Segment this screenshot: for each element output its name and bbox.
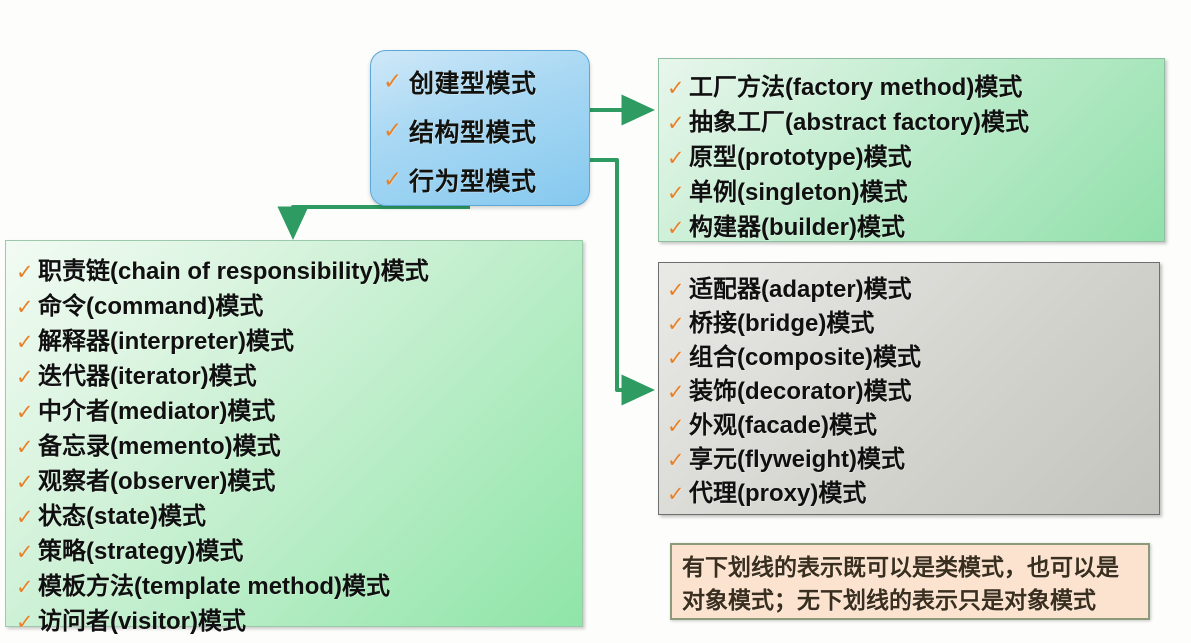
list-item[interactable]: ✓ 解释器(interpreter)模式 xyxy=(16,321,582,356)
check-icon: ✓ xyxy=(667,484,689,505)
pattern-label: 迭代器(iterator)模式 xyxy=(38,356,257,391)
check-icon: ✓ xyxy=(667,218,689,239)
check-icon: ✓ xyxy=(667,280,689,301)
pattern-label: 命令(command)模式 xyxy=(38,286,263,321)
pattern-label: 组合(composite)模式 xyxy=(689,337,921,372)
list-item[interactable]: ✓ 命令(command)模式 xyxy=(16,286,582,321)
check-icon: ✓ xyxy=(16,577,38,598)
check-icon: ✓ xyxy=(667,113,689,134)
check-icon: ✓ xyxy=(16,402,38,423)
note-line: 对象模式；无下划线的表示只是对象模式 xyxy=(682,584,1148,617)
check-icon: ✓ xyxy=(16,542,38,563)
check-icon: ✓ xyxy=(667,382,689,403)
list-item[interactable]: ✓ 访问者(visitor)模式 xyxy=(16,601,582,636)
pattern-label: 备忘录(memento)模式 xyxy=(38,426,281,461)
pattern-label: 中介者(mediator)模式 xyxy=(38,391,275,426)
list-item[interactable]: ✓ 代理(proxy)模式 xyxy=(667,473,1159,507)
creational-pattern-list: ✓ 工厂方法(factory method)模式 ✓ 抽象工厂(abstract… xyxy=(667,67,1164,242)
list-item[interactable]: ✓ 组合(composite)模式 xyxy=(667,337,1159,371)
behavioral-patterns-box: ✓ 职责链(chain of responsibility)模式 ✓ 命令(co… xyxy=(5,240,583,627)
note-line: 有下划线的表示既可以是类模式，也可以是 xyxy=(682,551,1148,584)
category-item-creational[interactable]: ✓ 创建型模式 xyxy=(371,57,589,106)
pattern-label: 工厂方法(factory method)模式 xyxy=(689,67,1022,102)
pattern-label: 桥接(bridge)模式 xyxy=(689,303,874,338)
category-item-behavioral[interactable]: ✓ 行为型模式 xyxy=(371,155,589,204)
pattern-category-box[interactable]: ✓ 创建型模式 ✓ 结构型模式 ✓ 行为型模式 xyxy=(370,50,590,206)
list-item[interactable]: ✓ 迭代器(iterator)模式 xyxy=(16,356,582,391)
check-icon: ✓ xyxy=(16,472,38,493)
check-icon: ✓ xyxy=(16,332,38,353)
legend-note-box: 有下划线的表示既可以是类模式，也可以是 对象模式；无下划线的表示只是对象模式 xyxy=(670,543,1150,620)
check-icon: ✓ xyxy=(667,78,689,99)
pattern-label: 策略(strategy)模式 xyxy=(38,531,243,566)
check-icon: ✓ xyxy=(667,348,689,369)
list-item[interactable]: ✓ 中介者(mediator)模式 xyxy=(16,391,582,426)
pattern-label: 外观(facade)模式 xyxy=(689,405,877,440)
list-item[interactable]: ✓ 状态(state)模式 xyxy=(16,496,582,531)
list-item[interactable]: ✓ 原型(prototype)模式 xyxy=(667,137,1164,172)
category-label: 行为型模式 xyxy=(409,162,537,198)
check-icon: ✓ xyxy=(16,297,38,318)
list-item[interactable]: ✓ 职责链(chain of responsibility)模式 xyxy=(16,251,582,286)
check-icon: ✓ xyxy=(667,183,689,204)
check-icon: ✓ xyxy=(16,507,38,528)
list-item[interactable]: ✓ 桥接(bridge)模式 xyxy=(667,303,1159,337)
list-item[interactable]: ✓ 单例(singleton)模式 xyxy=(667,172,1164,207)
list-item[interactable]: ✓ 享元(flyweight)模式 xyxy=(667,439,1159,473)
category-label: 结构型模式 xyxy=(409,113,537,149)
pattern-label: 职责链(chain of responsibility)模式 xyxy=(38,251,429,286)
pattern-label: 装饰(decorator)模式 xyxy=(689,371,912,406)
check-icon: ✓ xyxy=(667,450,689,471)
pattern-label: 构建器(builder)模式 xyxy=(689,207,905,242)
check-icon: ✓ xyxy=(16,262,38,283)
pattern-label: 观察者(observer)模式 xyxy=(38,461,275,496)
check-icon: ✓ xyxy=(667,416,689,437)
pattern-label: 原型(prototype)模式 xyxy=(689,137,912,172)
list-item[interactable]: ✓ 抽象工厂(abstract factory)模式 xyxy=(667,102,1164,137)
check-icon: ✓ xyxy=(16,612,38,633)
pattern-label: 模板方法(template method)模式 xyxy=(38,566,390,601)
pattern-label: 享元(flyweight)模式 xyxy=(689,439,905,474)
list-item[interactable]: ✓ 观察者(observer)模式 xyxy=(16,461,582,496)
list-item[interactable]: ✓ 策略(strategy)模式 xyxy=(16,531,582,566)
check-icon: ✓ xyxy=(16,367,38,388)
list-item[interactable]: ✓ 构建器(builder)模式 xyxy=(667,207,1164,242)
structural-pattern-list: ✓ 适配器(adapter)模式 ✓ 桥接(bridge)模式 ✓ 组合(com… xyxy=(667,269,1159,507)
list-item[interactable]: ✓ 模板方法(template method)模式 xyxy=(16,566,582,601)
list-item[interactable]: ✓ 适配器(adapter)模式 xyxy=(667,269,1159,303)
pattern-label: 单例(singleton)模式 xyxy=(689,172,908,207)
category-item-structural[interactable]: ✓ 结构型模式 xyxy=(371,106,589,155)
check-icon: ✓ xyxy=(667,148,689,169)
behavioral-pattern-list: ✓ 职责链(chain of responsibility)模式 ✓ 命令(co… xyxy=(16,251,582,636)
structural-patterns-box: ✓ 适配器(adapter)模式 ✓ 桥接(bridge)模式 ✓ 组合(com… xyxy=(658,262,1160,515)
connector-behavioral xyxy=(293,207,470,236)
list-item[interactable]: ✓ 工厂方法(factory method)模式 xyxy=(667,67,1164,102)
creational-patterns-box: ✓ 工厂方法(factory method)模式 ✓ 抽象工厂(abstract… xyxy=(658,58,1165,242)
pattern-label: 访问者(visitor)模式 xyxy=(38,601,246,636)
pattern-label: 抽象工厂(abstract factory)模式 xyxy=(689,102,1029,137)
check-icon: ✓ xyxy=(383,70,409,93)
list-item[interactable]: ✓ 外观(facade)模式 xyxy=(667,405,1159,439)
category-label: 创建型模式 xyxy=(409,64,537,100)
pattern-label: 状态(state)模式 xyxy=(38,496,206,531)
check-icon: ✓ xyxy=(383,119,409,142)
pattern-label: 解释器(interpreter)模式 xyxy=(38,321,294,356)
list-item[interactable]: ✓ 装饰(decorator)模式 xyxy=(667,371,1159,405)
check-icon: ✓ xyxy=(383,168,409,191)
check-icon: ✓ xyxy=(667,314,689,335)
pattern-label: 代理(proxy)模式 xyxy=(689,473,866,508)
list-item[interactable]: ✓ 备忘录(memento)模式 xyxy=(16,426,582,461)
check-icon: ✓ xyxy=(16,437,38,458)
pattern-label: 适配器(adapter)模式 xyxy=(689,269,912,304)
